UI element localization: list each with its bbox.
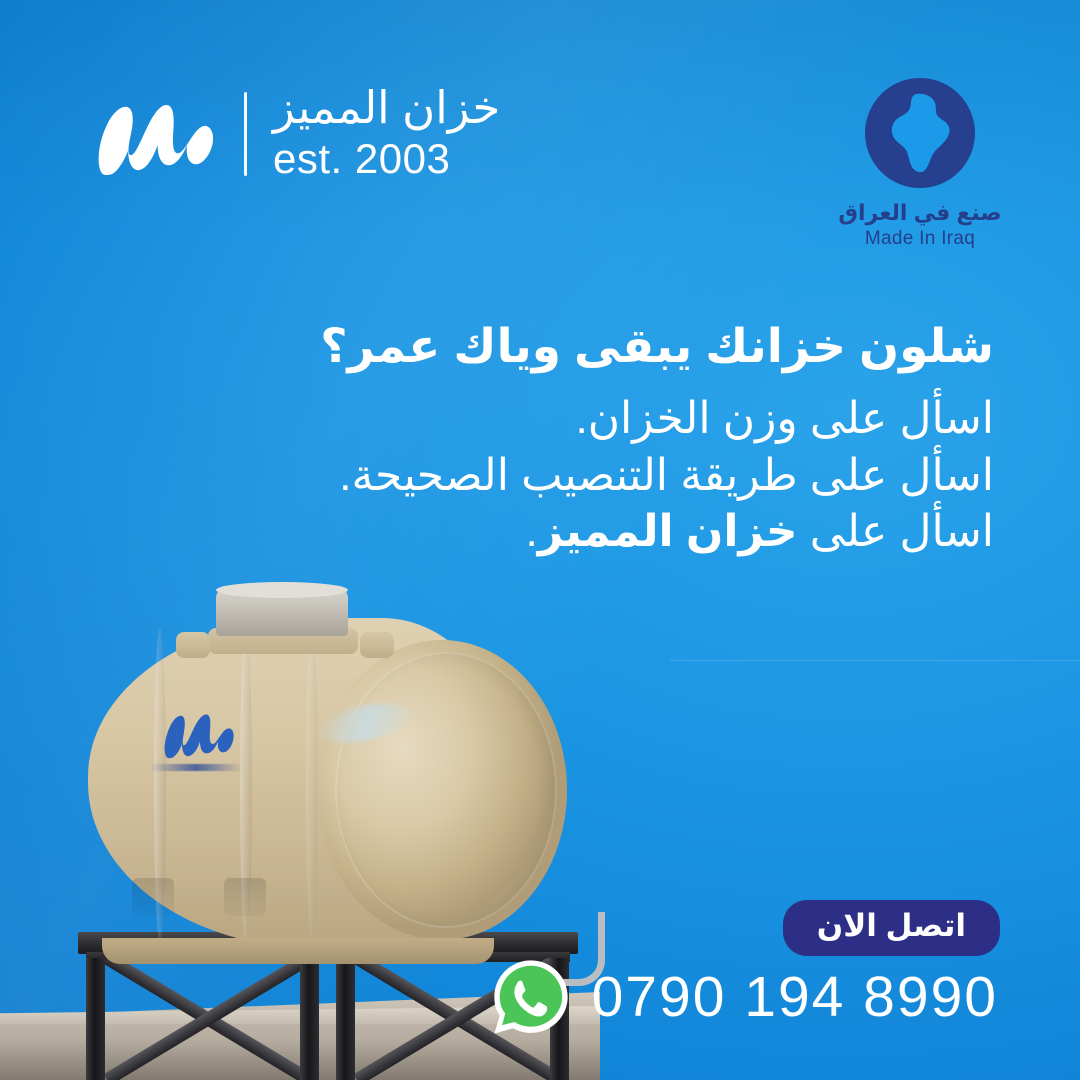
poster-canvas: خزان المميز est. 2003 صنع في العراق Made…: [0, 0, 1080, 1080]
tank-lug: [176, 632, 210, 658]
copy-line-2: اسأل على طريقة التنصيب الصحيحة.: [274, 448, 994, 504]
background-seam-line: [670, 660, 1080, 661]
brand-m-mark-icon: [88, 88, 218, 180]
copy-line-3: اسأل على خزان المميز.: [274, 504, 994, 560]
brand-name-ar: خزان المميز: [273, 84, 500, 131]
tank-end-cap-rim: [335, 652, 557, 928]
call-now-button[interactable]: اتصل الان: [783, 900, 1000, 956]
brand-established: est. 2003: [273, 135, 500, 183]
brand-lockup: خزان المميز est. 2003: [88, 84, 500, 184]
stand-leg: [86, 958, 105, 1080]
tank-base: [102, 938, 494, 964]
tank-indent: [224, 878, 266, 916]
copy-line-1: اسأل على وزن الخزان.: [274, 391, 994, 447]
stand-leg: [336, 958, 355, 1080]
whatsapp-icon[interactable]: [492, 958, 570, 1036]
made-in-iraq-badge: صنع في العراق Made In Iraq: [820, 78, 1020, 250]
tank-lid-top: [216, 582, 348, 598]
brand-text-group: خزان المميز est. 2003: [273, 84, 500, 184]
tank-brand-m-icon: [150, 704, 246, 771]
stand-leg: [300, 958, 319, 1080]
tank-indent: [132, 878, 174, 916]
brand-divider: [244, 92, 247, 176]
copy-block: شلون خزانك يبقى وياك عمر؟ اسأل على وزن ا…: [274, 318, 994, 560]
iraq-map-icon: [865, 78, 975, 188]
made-in-iraq-label-ar: صنع في العراق: [838, 200, 1001, 226]
copy-line-3-suffix: .: [525, 507, 537, 556]
headline: شلون خزانك يبقى وياك عمر؟: [274, 318, 994, 373]
phone-contact-row[interactable]: 0790 194 8990: [492, 958, 998, 1036]
water-tank: [88, 588, 563, 958]
tank-logo-subtext: [150, 764, 242, 771]
tank-lug: [360, 632, 394, 658]
stand-brace-left: [102, 958, 302, 1080]
copy-line-3-brand: خزان المميز: [538, 507, 798, 556]
copy-line-3-prefix: اسأل على: [798, 507, 994, 556]
phone-number[interactable]: 0790 194 8990: [592, 969, 998, 1026]
made-in-iraq-label-en: Made In Iraq: [865, 228, 975, 250]
